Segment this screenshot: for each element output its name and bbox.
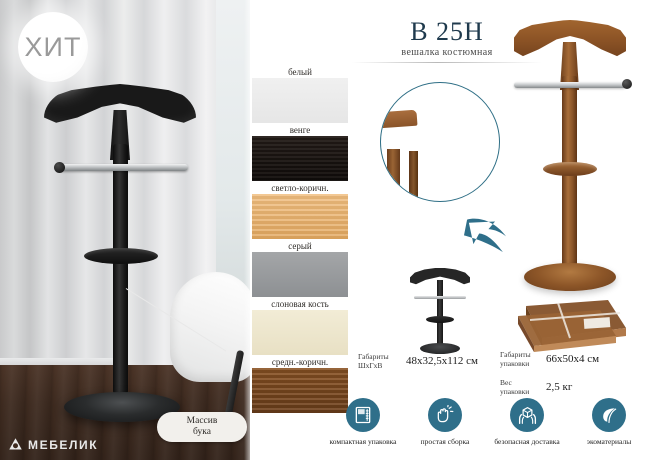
closeup-post bbox=[387, 149, 400, 202]
product-dimensions: Габариты ШхГхВ 48x32,5x112 см bbox=[358, 352, 498, 370]
swatch-label: светло-коричн. bbox=[250, 182, 350, 194]
hand-snap-icon bbox=[428, 398, 462, 432]
swatch-label: слоновая кость bbox=[250, 298, 350, 310]
brand-logo: МЕБЕЛИК bbox=[8, 437, 98, 452]
hit-badge: ХИТ bbox=[18, 12, 88, 82]
feature-item: компактная упаковка bbox=[322, 398, 404, 446]
swatch-chip bbox=[252, 136, 348, 181]
accessory-ring bbox=[84, 248, 158, 264]
package-weight-row: Вес упаковки 2,5 кг bbox=[500, 378, 650, 396]
color-swatch-column: белый венге светло-коричн. серый слонова… bbox=[250, 0, 350, 460]
triangle-logo-icon bbox=[8, 437, 23, 452]
product-dimensions-label: Габариты ШхГхВ bbox=[358, 352, 400, 370]
black-valet-stand bbox=[44, 84, 196, 414]
swatch-label: белый bbox=[250, 66, 350, 78]
label-line1: Вес bbox=[500, 378, 546, 387]
closeup-image bbox=[380, 87, 500, 199]
swatch-label: венге bbox=[250, 124, 350, 136]
feature-item: простая сборка bbox=[404, 398, 486, 446]
silhouette-post bbox=[437, 280, 443, 346]
package-weight-label: Вес упаковки bbox=[500, 378, 546, 396]
swatch-item[interactable]: светло-коричн. bbox=[250, 182, 350, 239]
package-dimensions-value: 66x50x4 см bbox=[546, 353, 599, 365]
swatch-chip bbox=[252, 310, 348, 355]
bar-end-knob bbox=[54, 162, 65, 173]
lifestyle-photo: ХИТ МЕБЕЛИК bbox=[0, 0, 250, 460]
label-line1: Габариты bbox=[358, 352, 400, 361]
brand-name: МЕБЕЛИК bbox=[28, 438, 98, 452]
product-infographic: ХИТ МЕБЕЛИК Массив бука белый венге bbox=[0, 0, 650, 460]
swatch-item[interactable]: венге bbox=[250, 124, 350, 181]
dimension-stand-silhouette bbox=[404, 268, 476, 356]
round-base bbox=[524, 263, 616, 291]
product-dimensions-value: 48x32,5x112 см bbox=[406, 355, 478, 367]
swatch-item[interactable]: слоновая кость bbox=[250, 298, 350, 355]
swatch-item[interactable]: серый bbox=[250, 240, 350, 297]
trouser-bar bbox=[514, 82, 626, 88]
label-line2: упаковки bbox=[500, 359, 546, 368]
package-box-image bbox=[508, 298, 626, 354]
package-weight-value: 2,5 кг bbox=[546, 381, 572, 393]
swatch-label: серый bbox=[250, 240, 350, 252]
product-photo bbox=[500, 14, 640, 299]
hit-badge-label: ХИТ bbox=[25, 32, 82, 63]
label-line2: ШхГхВ bbox=[358, 361, 400, 370]
swatch-chip bbox=[252, 78, 348, 123]
swatch-chip bbox=[252, 194, 348, 239]
feature-label: безопасная доставка bbox=[494, 437, 559, 446]
leaf-icon bbox=[592, 398, 626, 432]
swatch-item[interactable]: белый bbox=[250, 66, 350, 123]
closeup-shoulder-cap bbox=[380, 110, 418, 129]
closeup-post-secondary bbox=[409, 151, 418, 202]
swatch-label: средн.-коричн. bbox=[250, 356, 350, 368]
center-post bbox=[113, 144, 128, 394]
material-callout: Массив бука bbox=[157, 412, 247, 442]
material-callout-line2: бука bbox=[193, 427, 211, 438]
hands-box-icon bbox=[510, 398, 544, 432]
accessory-ring bbox=[543, 162, 597, 176]
swatch-chip bbox=[252, 252, 348, 297]
silhouette-ring bbox=[426, 316, 454, 323]
bar-end-knob bbox=[622, 79, 632, 89]
silhouette-bar bbox=[414, 296, 466, 299]
flat-package-icon bbox=[346, 398, 380, 432]
center-post bbox=[562, 76, 577, 276]
feature-item: безопасная доставка bbox=[486, 398, 568, 446]
feature-row: компактная упаковка простая сборка б bbox=[322, 398, 650, 446]
feature-label: простая сборка bbox=[421, 437, 470, 446]
feature-label: экоматериалы bbox=[587, 437, 631, 446]
label-line2: упаковки bbox=[500, 387, 546, 396]
trouser-bar bbox=[60, 164, 188, 171]
material-callout-line1: Массив bbox=[187, 416, 218, 427]
label-line1: Габариты bbox=[500, 350, 546, 359]
package-dimensions-label: Габариты упаковки bbox=[500, 350, 546, 368]
hanger-shoulder-closeup bbox=[380, 82, 500, 202]
feature-item: экоматериалы bbox=[568, 398, 650, 446]
feature-label: компактная упаковка bbox=[330, 437, 397, 446]
package-dimensions-row: Габариты упаковки 66x50x4 см bbox=[500, 350, 650, 368]
